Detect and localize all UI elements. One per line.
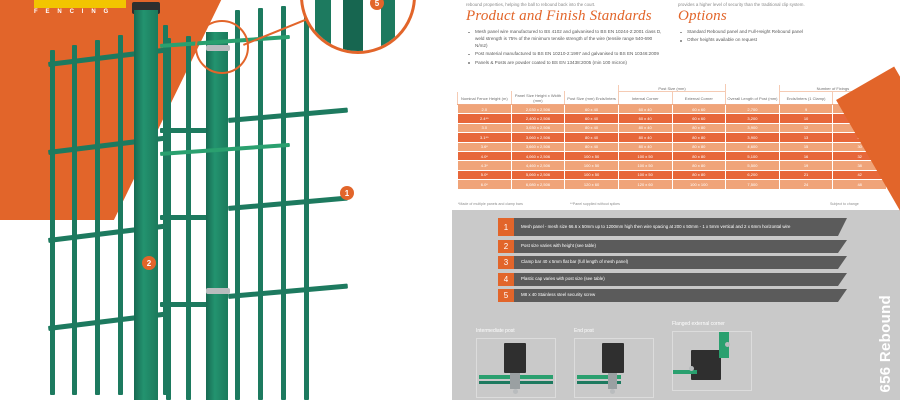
table-cell: 19	[779, 161, 833, 170]
table-cell: 2.4**	[458, 114, 512, 123]
table-footnote-left: *Made of multiple panels and clamp bars	[458, 202, 523, 206]
table-group-header: Post Size (mm)	[618, 85, 725, 92]
table-cell: 80 x 40	[618, 142, 672, 151]
product-bullet-item: Post material manufactured to BS EN 1021…	[466, 51, 664, 58]
table-column-header: Panel Size Height x Width (mm)	[511, 92, 565, 105]
table-row: 3.6*3,660 x 2,50680 x 4080 x 4080 x 804,…	[458, 142, 887, 151]
table-cell: 80 x 40	[565, 133, 619, 142]
table-cell: 100 x 50	[565, 170, 619, 179]
table-cell: 13	[779, 133, 833, 142]
product-bullet-item: Mesh panel wire manufactured to BS 4102 …	[466, 29, 664, 50]
table-cell: 60 x 60	[672, 114, 726, 123]
detail-zoom-ring	[195, 20, 249, 74]
table-cell: 80 x 80	[672, 170, 726, 179]
legend-row: 3Clamp bar 40 x 5mm flat bar (full lengt…	[498, 256, 838, 269]
illustration-panel: F E N C I N G	[0, 0, 452, 400]
legend-list: 1Mesh panel - mesh size 66.6 x 50mm up t…	[498, 218, 838, 306]
table-cell: 3.6*	[458, 142, 512, 151]
table-cell: 60 x 40	[565, 105, 619, 114]
legend-row: 2Post size varies with height (see table…	[498, 240, 838, 253]
table-cell: 3,900	[726, 133, 780, 142]
table-row: 2.4**2,400 x 2,50660 x 4060 x 4060 x 603…	[458, 114, 887, 123]
table-cell: 5,100	[726, 151, 780, 160]
table-cell: 100 x 50	[565, 151, 619, 160]
table-group-header	[726, 85, 780, 92]
table-column-header: Post Size (mm) Ends/Inters	[565, 92, 619, 105]
table-cell: 120 x 60	[618, 180, 672, 189]
diagram-label: Intermediate post	[476, 328, 556, 335]
table-cell: 4.3*	[458, 161, 512, 170]
table-row: 4.0*4,060 x 2,506100 x 50100 x 5080 x 80…	[458, 151, 887, 160]
table-cell: 3,900	[726, 123, 780, 132]
table-cell: 3,660 x 2,506	[511, 142, 565, 151]
specification-table: Post Size (mm)Number of Fixings Nominal …	[457, 84, 887, 190]
legend-row: 5M8 x 40 Stainless steel security screw	[498, 289, 838, 302]
table-cell: 16	[779, 151, 833, 160]
table-row: 5.0*5,060 x 2,506100 x 50100 x 5080 x 80…	[458, 170, 887, 179]
table-cell: 100 x 50	[618, 170, 672, 179]
specification-table-wrap: Post Size (mm)Number of Fixings Nominal …	[457, 84, 887, 190]
detail-leader-line	[243, 16, 313, 46]
main-post	[134, 10, 158, 400]
diagram-label: Flanged external corner	[672, 321, 752, 328]
table-cell: 6,080 x 2,506	[511, 180, 565, 189]
table-cell: 4.0*	[458, 151, 512, 160]
table-cell: 4,460 x 2,506	[511, 161, 565, 170]
table-cell: 6.0*	[458, 180, 512, 189]
table-column-header: Nominal Fence Height (m)	[458, 92, 512, 105]
table-footnote-right: Subject to change	[830, 202, 859, 206]
table-group-header	[458, 85, 619, 92]
table-cell: 3,060 x 2,506	[511, 133, 565, 142]
table-cell: 60 x 60	[672, 105, 726, 114]
legend-row: 4Plastic cap varies with post size (see …	[498, 273, 838, 286]
options-heading: Options	[678, 8, 727, 25]
table-cell: 80 x 80	[672, 161, 726, 170]
table-cell: 7,500	[726, 180, 780, 189]
product-bullet-item: Panels & Posts are powder coated to BS E…	[466, 60, 664, 67]
table-row: 6.0*6,080 x 2,506120 x 60120 x 60100 x 1…	[458, 180, 887, 189]
table-column-header: Internal Corner	[618, 92, 672, 105]
callout-1: 1	[340, 186, 354, 200]
table-column-header: Overall Length of Post (mm)	[726, 92, 780, 105]
table-cell: 5.0*	[458, 170, 512, 179]
legend-text: Post size varies with height (see table)	[514, 240, 838, 253]
fence-illustration: 1 2 5	[0, 0, 452, 400]
table-cell: 80 x 40	[618, 133, 672, 142]
table-row: 2.02,030 x 2,50660 x 4060 x 4060 x 602,7…	[458, 105, 887, 114]
table-head: Post Size (mm)Number of Fixings Nominal …	[458, 85, 887, 105]
table-cell: 2.0	[458, 105, 512, 114]
diagram-end-post: End post	[574, 328, 654, 398]
table-cell: 3,030 x 2,506	[511, 123, 565, 132]
table-group-header-row: Post Size (mm)Number of Fixings	[458, 85, 887, 92]
legend-number: 3	[498, 256, 514, 269]
table-row: 3.03,030 x 2,50680 x 4080 x 4080 x 803,9…	[458, 123, 887, 132]
table-cell: 80 x 80	[672, 151, 726, 160]
table-cell: 80 x 40	[565, 123, 619, 132]
table-cell: 60 x 40	[565, 114, 619, 123]
table-cell: 100 x 100	[672, 180, 726, 189]
table-cell: 2,700	[726, 105, 780, 114]
legend-section: 1Mesh panel - mesh size 66.6 x 50mm up t…	[452, 210, 900, 400]
table-cell: 6,200	[726, 170, 780, 179]
table-cell: 80 x 40	[565, 142, 619, 151]
option-bullet-item: Standard Rebound panel and Full-Height R…	[678, 29, 878, 36]
table-row: 3.1**3,060 x 2,50680 x 4080 x 4080 x 803…	[458, 133, 887, 142]
table-cell: 100 x 50	[618, 151, 672, 160]
callout-2: 2	[142, 256, 156, 270]
table-cell: 80 x 80	[672, 133, 726, 142]
table-cell: 3.0	[458, 123, 512, 132]
table-cell: 80 x 80	[672, 142, 726, 151]
legend-text: Plastic cap varies with post size (see t…	[514, 273, 838, 286]
content-panel: rebound properties, helping the ball to …	[452, 0, 900, 400]
detail-zoom-inset	[300, 0, 416, 54]
product-bullet-list: Mesh panel wire manufactured to BS 4102 …	[466, 29, 664, 68]
table-cell: 48	[833, 180, 887, 189]
legend-text: M8 x 40 Stainless steel security screw	[514, 289, 838, 302]
table-cell: 3.1**	[458, 133, 512, 142]
diagram-label: End post	[574, 328, 654, 335]
legend-text: Mesh panel - mesh size 66.6 x 50mm up to…	[514, 218, 838, 236]
table-cell: 80 x 80	[672, 123, 726, 132]
table-cell: 38	[833, 161, 887, 170]
table-cell: 20	[833, 114, 887, 123]
table-cell: 60 x 40	[618, 105, 672, 114]
table-footnote-mid: **Panel supplied without spikes	[570, 202, 620, 206]
table-cell: 42	[833, 170, 887, 179]
diagram-flanged-external-corner: Flanged external corner	[672, 321, 752, 391]
table-header-row: Nominal Fence Height (m)Panel Size Heigh…	[458, 92, 887, 105]
table-cell: 18	[833, 105, 887, 114]
table-cell: 4,600	[726, 142, 780, 151]
table-group-header: Number of Fixings	[779, 85, 886, 92]
legend-number: 2	[498, 240, 514, 253]
table-cell: 60 x 40	[618, 114, 672, 123]
table-cell: 10	[779, 114, 833, 123]
table-cell: 26	[833, 133, 887, 142]
security-screw-lower	[206, 288, 230, 294]
table-cell: 4,060 x 2,506	[511, 151, 565, 160]
table-cell: 2,030 x 2,506	[511, 105, 565, 114]
table-cell: 100 x 50	[565, 161, 619, 170]
table-cell: 30	[833, 142, 887, 151]
legend-number: 5	[498, 289, 514, 302]
product-standards-heading: Product and Finish Standards	[466, 8, 652, 25]
table-cell: 24	[779, 180, 833, 189]
option-bullet-item: Other heights available on request	[678, 37, 878, 44]
legend-row: 1Mesh panel - mesh size 66.6 x 50mm up t…	[498, 218, 838, 236]
table-cell: 80 x 40	[618, 123, 672, 132]
legend-number: 1	[498, 218, 514, 236]
table-column-header: External Corner	[672, 92, 726, 105]
table-body: 2.02,030 x 2,50660 x 4060 x 4060 x 602,7…	[458, 105, 887, 190]
table-cell: 2,400 x 2,506	[511, 114, 565, 123]
table-cell: 21	[779, 170, 833, 179]
table-cell: 15	[779, 142, 833, 151]
legend-text: Clamp bar 40 x 5mm flat bar (full length…	[514, 256, 838, 269]
diagram-intermediate-post: Intermediate post	[476, 328, 556, 398]
table-cell: 3,200	[726, 114, 780, 123]
table-cell: 5,500	[726, 161, 780, 170]
table-cell: 120 x 60	[565, 180, 619, 189]
table-cell: 5,060 x 2,506	[511, 170, 565, 179]
options-bullet-list: Standard Rebound panel and Full-Height R…	[678, 29, 878, 46]
table-column-header: Ends/Inters (1 Clamp)	[779, 92, 833, 105]
table-row: 4.3*4,460 x 2,506100 x 50100 x 5080 x 80…	[458, 161, 887, 170]
table-cell: 12	[779, 123, 833, 132]
legend-number: 4	[498, 273, 514, 286]
table-column-header: Corners (2 Clamps)	[833, 92, 887, 105]
second-post	[206, 32, 228, 400]
table-cell: 24	[833, 123, 887, 132]
table-cell: 9	[779, 105, 833, 114]
table-cell: 32	[833, 151, 887, 160]
table-cell: 100 x 50	[618, 161, 672, 170]
